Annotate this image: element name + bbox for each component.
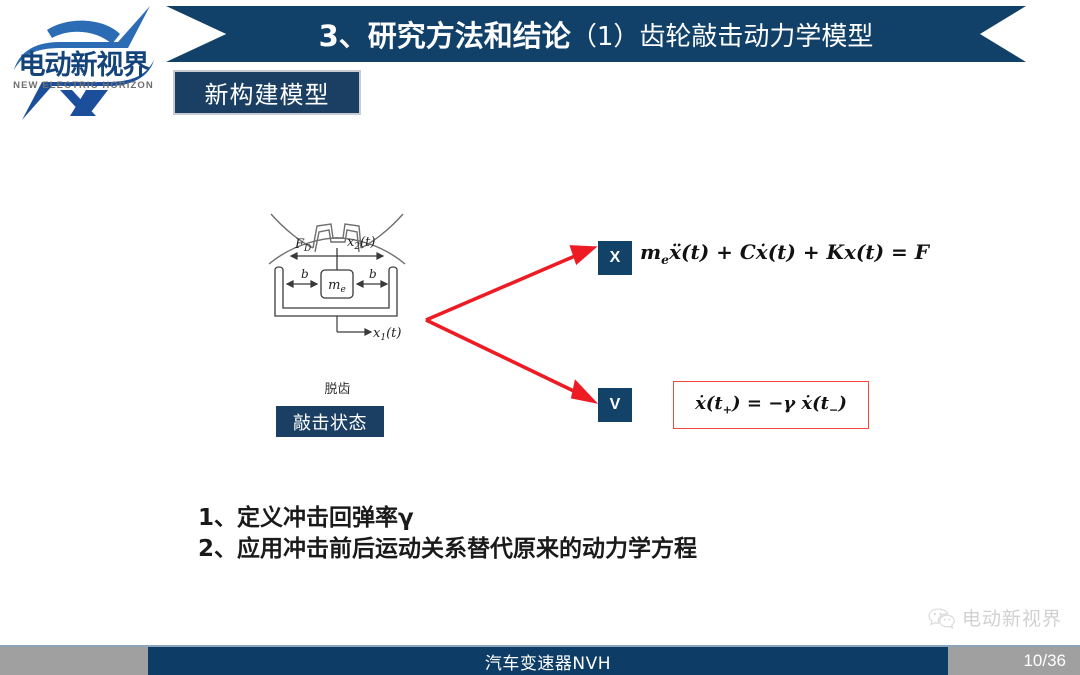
title-banner: 3、研究方法和结论 （1）齿轮敲击动力学模型 bbox=[166, 6, 1026, 62]
footer-center-bar: 汽车变速器NVH bbox=[148, 647, 948, 675]
logo-name-en: NEW ELECTRIC HORIZON bbox=[6, 80, 161, 91]
gap-right-label: b bbox=[369, 267, 377, 281]
page-number: 10/36 bbox=[1023, 651, 1066, 671]
force-label: FD bbox=[294, 237, 311, 254]
wechat-icon bbox=[928, 607, 956, 629]
badge-velocity-label: V bbox=[610, 396, 621, 414]
gear-knock-diagram: me FD x2(t) b b x1(t) bbox=[265, 208, 410, 378]
knock-state-badge: 敲击状态 bbox=[276, 406, 384, 437]
x1-label: x1(t) bbox=[373, 326, 401, 343]
watermark-text: 电动新视界 bbox=[962, 604, 1062, 631]
conclusion-item-1: 1、定义冲击回弹率γ bbox=[198, 503, 958, 534]
branch-arrows bbox=[410, 225, 610, 425]
knock-state-label: 敲击状态 bbox=[293, 409, 367, 435]
equation-velocity: ẋ(t+) = −γ ẋ(t−) bbox=[695, 393, 847, 417]
badge-velocity: V bbox=[598, 388, 632, 422]
footer-page-block: 10/36 bbox=[948, 647, 1080, 675]
subtitle-badge: 新构建模型 bbox=[173, 70, 361, 115]
equation-velocity-box: ẋ(t+) = −γ ẋ(t−) bbox=[673, 381, 869, 429]
wechat-watermark: 电动新视界 bbox=[928, 604, 1062, 631]
footer-title: 汽车变速器NVH bbox=[485, 649, 611, 674]
x2-label: x2(t) bbox=[347, 235, 375, 252]
footer-left-block bbox=[0, 647, 148, 675]
page-title-light: （1）齿轮敲击动力学模型 bbox=[571, 16, 874, 53]
diagram-caption: 脱齿 bbox=[265, 378, 410, 397]
logo-name-cn: 电动新视界 bbox=[6, 52, 161, 79]
badge-displacement: X bbox=[598, 241, 632, 275]
gap-left-label: b bbox=[301, 267, 309, 281]
brand-logo: 电动新视界 NEW ELECTRIC HORIZON bbox=[0, 4, 165, 126]
conclusion-item-2: 2、应用冲击前后运动关系替代原来的动力学方程 bbox=[198, 534, 958, 565]
subtitle-label: 新构建模型 bbox=[205, 75, 330, 110]
arrow-to-x-icon bbox=[426, 247, 593, 320]
page-title: 3、研究方法和结论 （1）齿轮敲击动力学模型 bbox=[216, 6, 976, 62]
arrow-to-v-icon bbox=[426, 320, 593, 401]
page-title-strong: 3、研究方法和结论 bbox=[319, 13, 571, 55]
equation-displacement: meẍ(t) + Cẋ(t) + Kx(t) = F bbox=[640, 240, 929, 267]
conclusion-list: 1、定义冲击回弹率γ 2、应用冲击前后运动关系替代原来的动力学方程 bbox=[198, 503, 958, 564]
badge-displacement-label: X bbox=[610, 249, 621, 267]
